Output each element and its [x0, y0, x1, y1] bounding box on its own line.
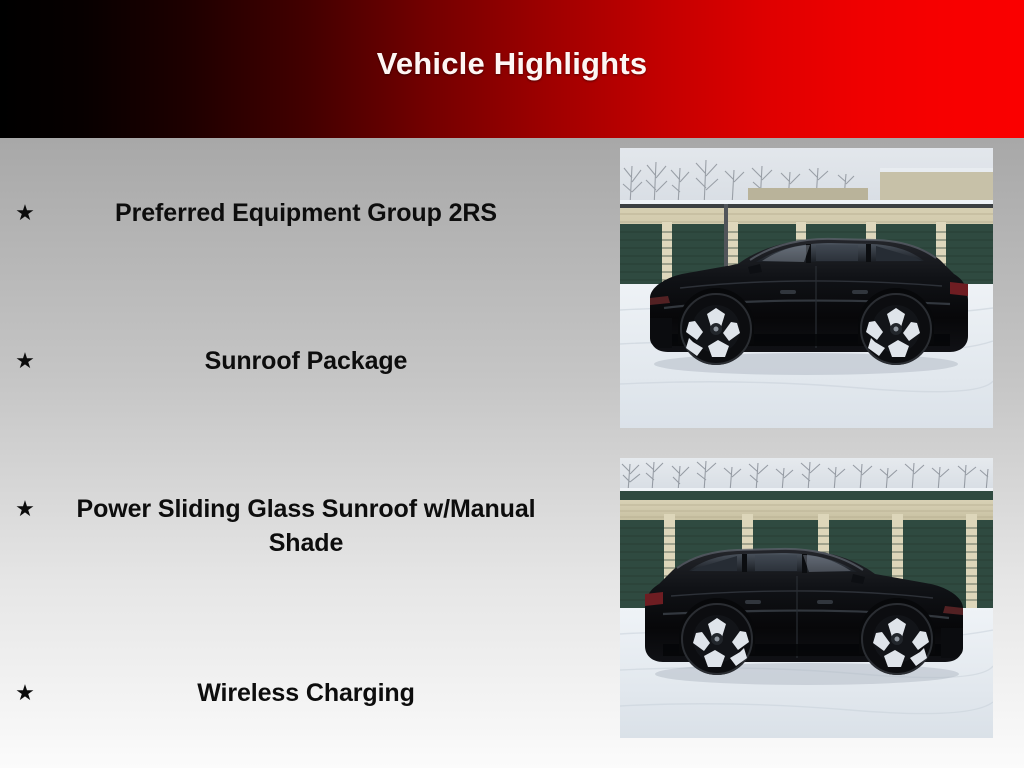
header-banner: Vehicle Highlights	[0, 0, 1024, 138]
feature-list: ★ Preferred Equipment Group 2RS ★ Sunroo…	[0, 138, 600, 768]
slide-root: Vehicle Highlights ★ Preferred Equipment…	[0, 0, 1024, 768]
vehicle-photo-driver-side-graphic	[620, 148, 993, 428]
vehicle-photo-driver-side	[620, 148, 993, 428]
vehicle-photo-passenger-side	[620, 458, 993, 738]
star-icon: ★	[12, 350, 38, 372]
star-icon: ★	[12, 498, 38, 520]
feature-label: Power Sliding Glass Sunroof w/Manual Sha…	[56, 492, 556, 560]
feature-label: Wireless Charging	[56, 676, 556, 710]
star-icon: ★	[12, 202, 38, 224]
feature-label: Preferred Equipment Group 2RS	[56, 196, 556, 230]
star-icon: ★	[12, 682, 38, 704]
vehicle-photo-passenger-side-graphic	[620, 458, 993, 738]
feature-label: Sunroof Package	[56, 344, 556, 378]
page-title: Vehicle Highlights	[0, 48, 1024, 79]
